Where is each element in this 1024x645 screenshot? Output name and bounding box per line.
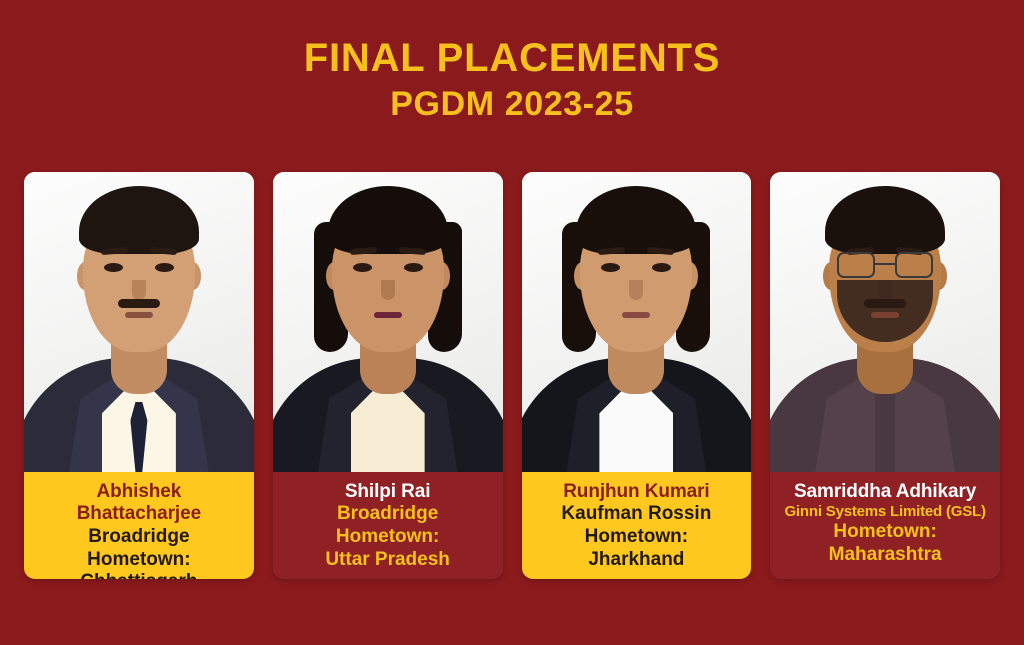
student-info-label: Runjhun Kumari Kaufman Rossin Hometown: … — [522, 472, 752, 579]
hometown-value: Uttar Pradesh — [281, 549, 495, 572]
eyeglasses-icon — [837, 252, 933, 280]
placement-card[interactable]: Shilpi Rai Broadridge Hometown: Uttar Pr… — [273, 172, 503, 579]
student-info-label: Samriddha Adhikary Ginni Systems Limited… — [770, 472, 1000, 579]
student-info-label: Abhishek Bhattacharjee Broadridge Hometo… — [24, 472, 254, 579]
student-name: Samriddha Adhikary — [778, 481, 992, 503]
company-name: Kaufman Rossin — [530, 503, 744, 526]
hometown-label: Hometown: — [281, 526, 495, 549]
student-portrait-photo — [770, 172, 1000, 472]
student-portrait-photo — [522, 172, 752, 472]
student-name: Runjhun Kumari — [530, 481, 744, 503]
hometown-value: Maharashtra — [778, 544, 992, 567]
company-name: Broadridge — [281, 503, 495, 526]
student-portrait-photo — [24, 172, 254, 472]
page-subtitle: PGDM 2023-25 — [0, 85, 1024, 124]
poster-header: FINAL PLACEMENTS PGDM 2023-25 — [0, 0, 1024, 124]
hometown-label: Hometown: — [32, 549, 246, 572]
student-portrait-photo — [273, 172, 503, 472]
hometown-label: Hometown: — [778, 521, 992, 544]
placement-card[interactable]: Samriddha Adhikary Ginni Systems Limited… — [770, 172, 1000, 579]
hometown-label: Hometown: — [530, 526, 744, 549]
page-title: FINAL PLACEMENTS — [0, 36, 1024, 81]
company-name: Broadridge — [32, 526, 246, 549]
placement-card-row: Abhishek Bhattacharjee Broadridge Hometo… — [24, 172, 1000, 579]
hometown-value: Jharkhand — [530, 549, 744, 572]
student-name: Shilpi Rai — [281, 481, 495, 503]
student-name: Abhishek Bhattacharjee — [32, 481, 246, 526]
hometown-value: Chhattisgarh — [32, 571, 246, 579]
student-info-label: Shilpi Rai Broadridge Hometown: Uttar Pr… — [273, 472, 503, 579]
company-name: Ginni Systems Limited (GSL) — [778, 503, 992, 521]
placement-card[interactable]: Abhishek Bhattacharjee Broadridge Hometo… — [24, 172, 254, 579]
placement-card[interactable]: Runjhun Kumari Kaufman Rossin Hometown: … — [522, 172, 752, 579]
